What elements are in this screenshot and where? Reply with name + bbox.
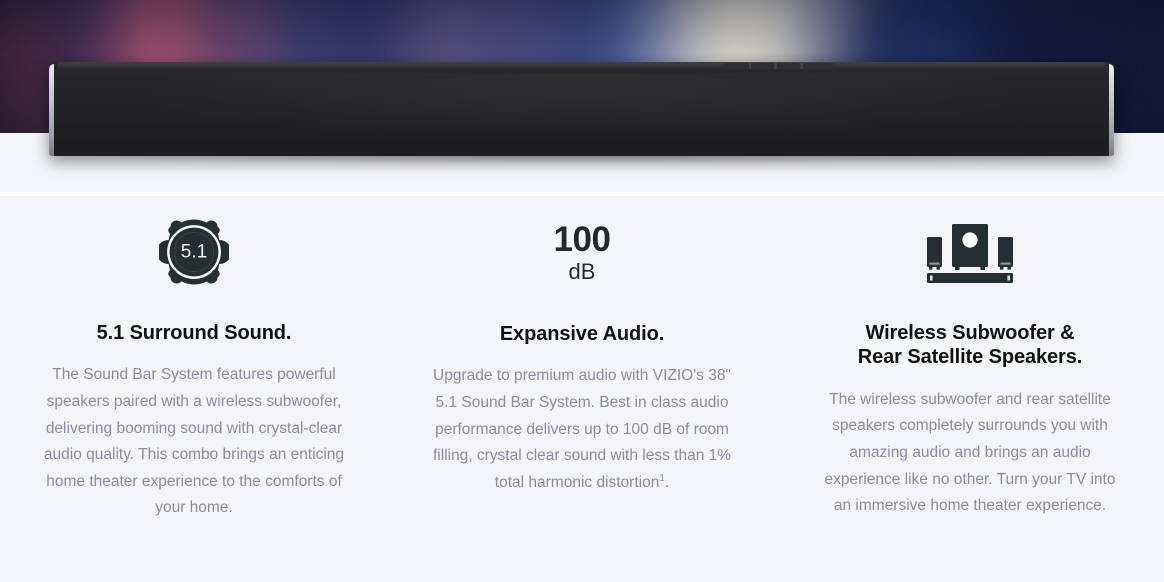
feature-title: Wireless Subwoofer &Rear Satellite Speak… [848,321,1092,370]
speaker-driver-icon: 5.1 [159,219,229,285]
hero-section [0,0,1164,196]
features-section: 5.1 5.1 Surround Sound. The Sound Bar Sy… [0,196,1164,582]
decibel-stat-icon: 100 dB [554,219,611,285]
feature-column-subwoofer-satellites: Wireless Subwoofer &Rear Satellite Speak… [776,196,1164,582]
soundbar-top-panel [57,62,1106,71]
feature-description: The wireless subwoofer and rear satellit… [819,387,1121,520]
feature-column-surround-sound: 5.1 5.1 Surround Sound. The Sound Bar Sy… [0,196,388,582]
decibel-unit: dB [554,261,611,283]
soundbar-product-image [49,62,1114,156]
feature-description-text: Upgrade to premium audio with VIZIO's 38… [433,367,731,490]
feature-title: 5.1 Surround Sound. [87,321,302,345]
decibel-value: 100 [554,222,611,257]
feature-title-line-2: Rear Satellite Speakers. [858,346,1082,368]
soundbar-grille [55,73,1108,152]
speaker-system-icon [925,219,1015,285]
soundbar-left-edge [49,64,54,156]
soundbar-right-edge [1109,64,1114,156]
soundbar-top-buttons [725,63,833,69]
feature-title: Expansive Audio. [490,322,674,346]
feature-description: The Sound Bar System features powerful s… [43,362,345,522]
feature-column-expansive-audio: 100 dB Expansive Audio. Upgrade to premi… [388,196,776,582]
feature-description-tail: . [665,474,669,491]
feature-title-line-1: Wireless Subwoofer & [866,322,1075,344]
speaker-icon-label: 5.1 [181,242,207,263]
decibel-stat: 100 dB [554,222,611,283]
feature-description: Upgrade to premium audio with VIZIO's 38… [431,363,733,496]
